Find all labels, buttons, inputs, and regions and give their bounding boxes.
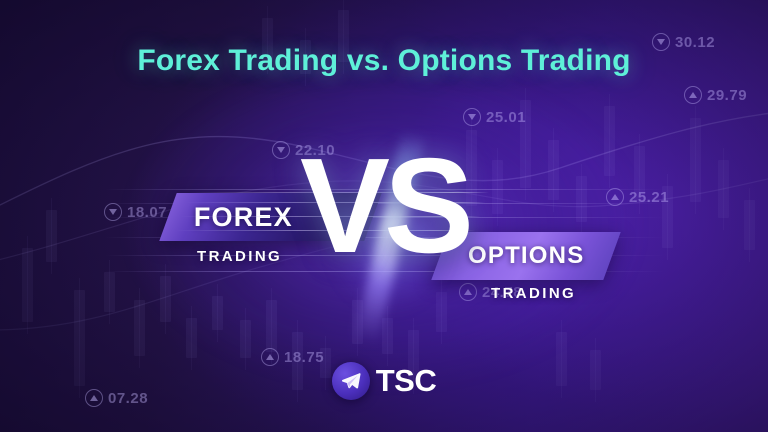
versus-banner: FOREX TRADING OPTIONS TRADING VS bbox=[0, 160, 768, 310]
ticker-quote: 25.01 bbox=[463, 108, 526, 126]
page-title: Forex Trading vs. Options Trading bbox=[0, 44, 768, 78]
poster-canvas: 30.1229.7925.0122.1018.0725.2124.7818.75… bbox=[0, 0, 768, 432]
paper-plane-icon bbox=[332, 362, 370, 400]
ticker-quote: 29.79 bbox=[684, 86, 747, 104]
arrow-down-icon bbox=[463, 108, 481, 126]
vs-text: VS bbox=[300, 138, 468, 273]
brand-logo: TSC bbox=[0, 362, 768, 400]
options-subtitle: TRADING bbox=[491, 285, 576, 302]
forex-subtitle: TRADING bbox=[197, 248, 282, 265]
arrow-down-icon bbox=[272, 141, 290, 159]
logo-text: TSC bbox=[376, 363, 437, 399]
ticker-value: 29.79 bbox=[707, 87, 747, 104]
arrow-up-icon bbox=[684, 86, 702, 104]
ticker-value: 25.01 bbox=[486, 109, 526, 126]
